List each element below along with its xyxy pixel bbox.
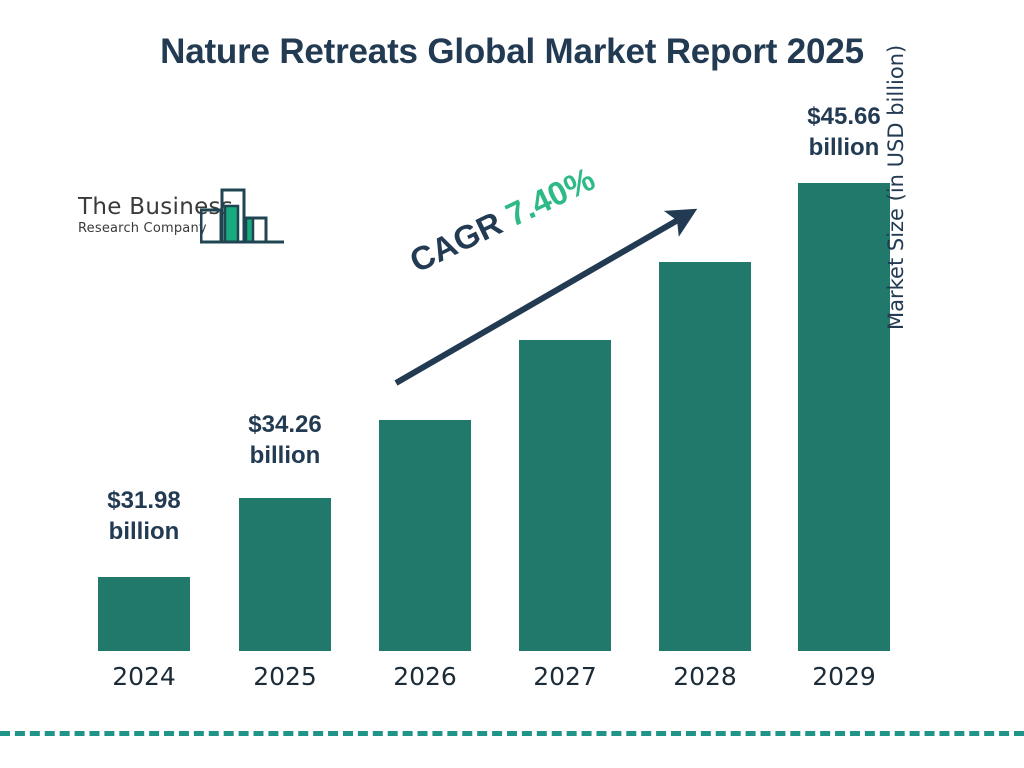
footer-divider bbox=[0, 731, 1024, 736]
x-tick-2025: 2025 bbox=[225, 662, 345, 691]
x-tick-2029: 2029 bbox=[784, 662, 904, 691]
chart-page: Nature Retreats Global Market Report 202… bbox=[0, 0, 1024, 768]
bar-2029 bbox=[798, 183, 890, 651]
bar-2026 bbox=[379, 420, 471, 651]
bar-2024 bbox=[98, 577, 190, 651]
bar-value-label-2024: $31.98 billion bbox=[74, 486, 214, 547]
bar-value-label-2025: $34.26 billion bbox=[215, 410, 355, 471]
bar-chart-plot-area: $31.98 billion $34.26 billion $45.66 bil… bbox=[0, 0, 1024, 768]
bar-2025 bbox=[239, 498, 331, 651]
growth-arrow-icon bbox=[380, 190, 720, 400]
x-tick-2026: 2026 bbox=[365, 662, 485, 691]
y-axis-title: Market Size (in USD billion) bbox=[884, 0, 908, 330]
x-tick-2027: 2027 bbox=[505, 662, 625, 691]
x-tick-2028: 2028 bbox=[645, 662, 765, 691]
x-tick-2024: 2024 bbox=[84, 662, 204, 691]
